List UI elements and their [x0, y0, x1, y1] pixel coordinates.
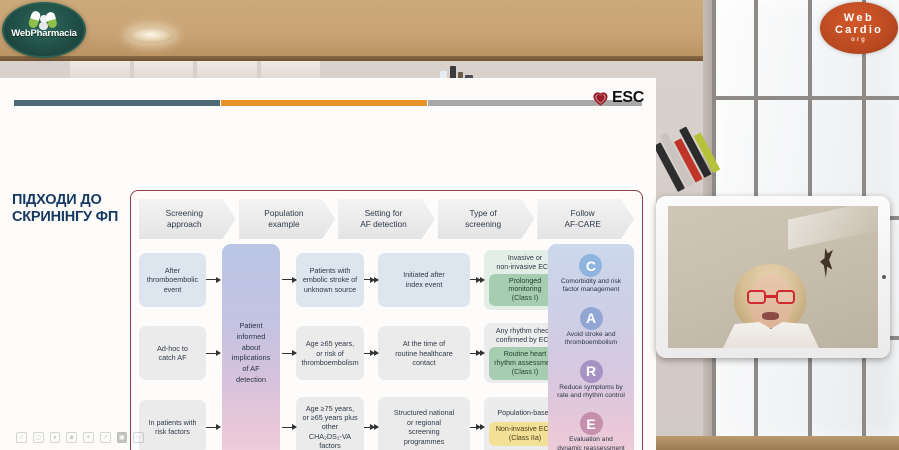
cell-population-3: Age ≥75 years, or ≥65 years plus other C… — [296, 390, 364, 450]
af-care-label-a: Avoid stroke and thromboembolism — [565, 331, 617, 347]
camera-icon[interactable]: ▢ — [33, 432, 44, 443]
cell-setting-2: At the time of routine healthcare contac… — [378, 317, 470, 391]
af-care-panel: C Comorbidity and risk factor management… — [548, 244, 634, 450]
cell-approach-3: In patients with risk factors — [139, 390, 206, 450]
cell-approach-1: After thromboembolic event — [139, 243, 206, 317]
arrow-setting-type-2 — [470, 317, 484, 391]
wall-decoration-icon — [820, 248, 833, 278]
af-care-label-e: Evaluation and dynamic reassessment — [557, 436, 624, 450]
header-type-of-screening: Type of screening — [438, 199, 535, 239]
header-screening-approach: Screening approach — [139, 199, 236, 239]
arrow-approach-center-3 — [206, 390, 220, 450]
arrow-center-population-1 — [282, 243, 296, 317]
center-patient-informed-panel: Patient informed about implications of A… — [222, 244, 280, 450]
box-setting-1: Initiated after index event — [378, 253, 470, 307]
arrow-population-setting-1 — [364, 243, 378, 317]
background-ceiling — [0, 0, 770, 60]
cell-approach-2: Ad-hoc to catch AF — [139, 317, 206, 391]
type-top-1: Invasive or non-invasive ECG — [496, 254, 553, 272]
webcardio-line1: Web — [844, 13, 875, 25]
af-care-circle-r: R — [580, 360, 603, 383]
speaker-mouth — [762, 312, 779, 320]
speaker-video-panel[interactable] — [656, 196, 890, 358]
arrow-approach-center-2 — [206, 317, 220, 391]
slide-accent-bars — [14, 100, 642, 106]
box-population-example-2: Age ≥65 years, or risk of thromboembolis… — [296, 326, 364, 380]
header-setting-for-af-detection: Setting for AF detection — [338, 199, 435, 239]
af-care-label-c: Comorbidity and risk factor management — [561, 278, 621, 294]
arrow-population-setting-2 — [364, 317, 378, 391]
af-care-circle-a: A — [580, 307, 603, 330]
pills-icon — [30, 11, 60, 31]
cell-population-1: Patients with embolic stroke of unknown … — [296, 243, 364, 317]
settings-icon[interactable]: ✳ — [83, 432, 94, 443]
arrow-approach-center-1 — [206, 243, 220, 317]
video-wall-highlight — [788, 206, 878, 250]
type-top-2: Any rhythm check, confirmed by ECG — [496, 327, 554, 345]
header-follow-af-care: Follow AF-CARE — [537, 199, 634, 239]
arrow-center-population-3 — [282, 390, 296, 450]
screen-share-icon[interactable]: ▣ — [117, 432, 128, 443]
webpharmacia-logo: WebPharmacia — [2, 2, 86, 58]
box-screening-approach-3: In patients with risk factors — [139, 400, 206, 450]
share-icon[interactable]: ↗ — [100, 432, 111, 443]
type-top-3: Population-based — [497, 409, 552, 418]
microphone-icon[interactable]: ● — [50, 432, 61, 443]
esc-label-top: ESC — [612, 89, 644, 107]
more-icon[interactable]: ⋯ — [133, 432, 144, 443]
header-population-example: Population example — [239, 199, 336, 239]
af-care-label-r: Reduce symptoms by rate and rhythm contr… — [557, 384, 625, 400]
box-screening-approach-1: After thromboembolic event — [139, 253, 206, 307]
ceiling-lamp-icon — [128, 28, 174, 43]
af-care-circle-e: E — [580, 412, 603, 435]
arrow-center-population-2 — [282, 317, 296, 391]
webcardio-line2: Cardio — [835, 25, 883, 37]
webcardio-logo: Web Cardio org — [820, 2, 898, 54]
box-setting-2: At the time of routine healthcare contac… — [378, 326, 470, 380]
presentation-slide[interactable]: ESC ПІДХОДИ ДО СКРИНІНГУ ФП Screening ap… — [0, 78, 656, 450]
af-care-circle-c: C — [579, 254, 602, 277]
esc-logo-top: ESC — [592, 89, 644, 107]
box-setting-3: Structured national or regional screenin… — [378, 397, 470, 450]
screen-root: WebPharmacia Web Cardio org ESC ПІДХОДИ … — [0, 0, 899, 450]
esc-heart-icon — [592, 90, 609, 107]
cell-setting-1: Initiated after index event — [378, 243, 470, 317]
cell-setting-3: Structured national or regional screenin… — [378, 390, 470, 450]
box-screening-approach-2: Ad-hoc to catch AF — [139, 326, 206, 380]
af-care-item-r: R Reduce symptoms by rate and rhythm con… — [557, 360, 625, 400]
af-care-item-a: A Avoid stroke and thromboembolism — [565, 307, 617, 347]
page-title: ПІДХОДИ ДО СКРИНІНГУ ФП — [12, 192, 124, 227]
speaker-video-feed[interactable] — [668, 206, 878, 348]
volume-icon[interactable]: ◉ — [66, 432, 77, 443]
speaker-glasses-icon — [747, 290, 795, 305]
af-care-item-e: E Evaluation and dynamic reassessment — [557, 412, 624, 450]
box-population-example-3: Age ≥75 years, or ≥65 years plus other C… — [296, 397, 364, 450]
arrow-setting-type-1 — [470, 243, 484, 317]
af-care-item-c: C Comorbidity and risk factor management — [561, 254, 621, 294]
box-population-example-1: Patients with embolic stroke of unknown … — [296, 253, 364, 307]
af-screening-figure: Screening approach Population example Se… — [130, 190, 643, 450]
smiley-icon[interactable]: ☺ — [16, 432, 27, 443]
arrow-population-setting-3 — [364, 390, 378, 450]
figure-header-row: Screening approach Population example Se… — [139, 199, 634, 239]
player-toolbar[interactable]: ☺ ▢ ● ◉ ✳ ↗ ▣ ⋯ — [16, 430, 144, 445]
webcardio-line3: org — [851, 37, 867, 43]
cell-population-2: Age ≥65 years, or risk of thromboembolis… — [296, 317, 364, 391]
arrow-setting-type-3 — [470, 390, 484, 450]
device-home-button-icon — [882, 275, 886, 279]
